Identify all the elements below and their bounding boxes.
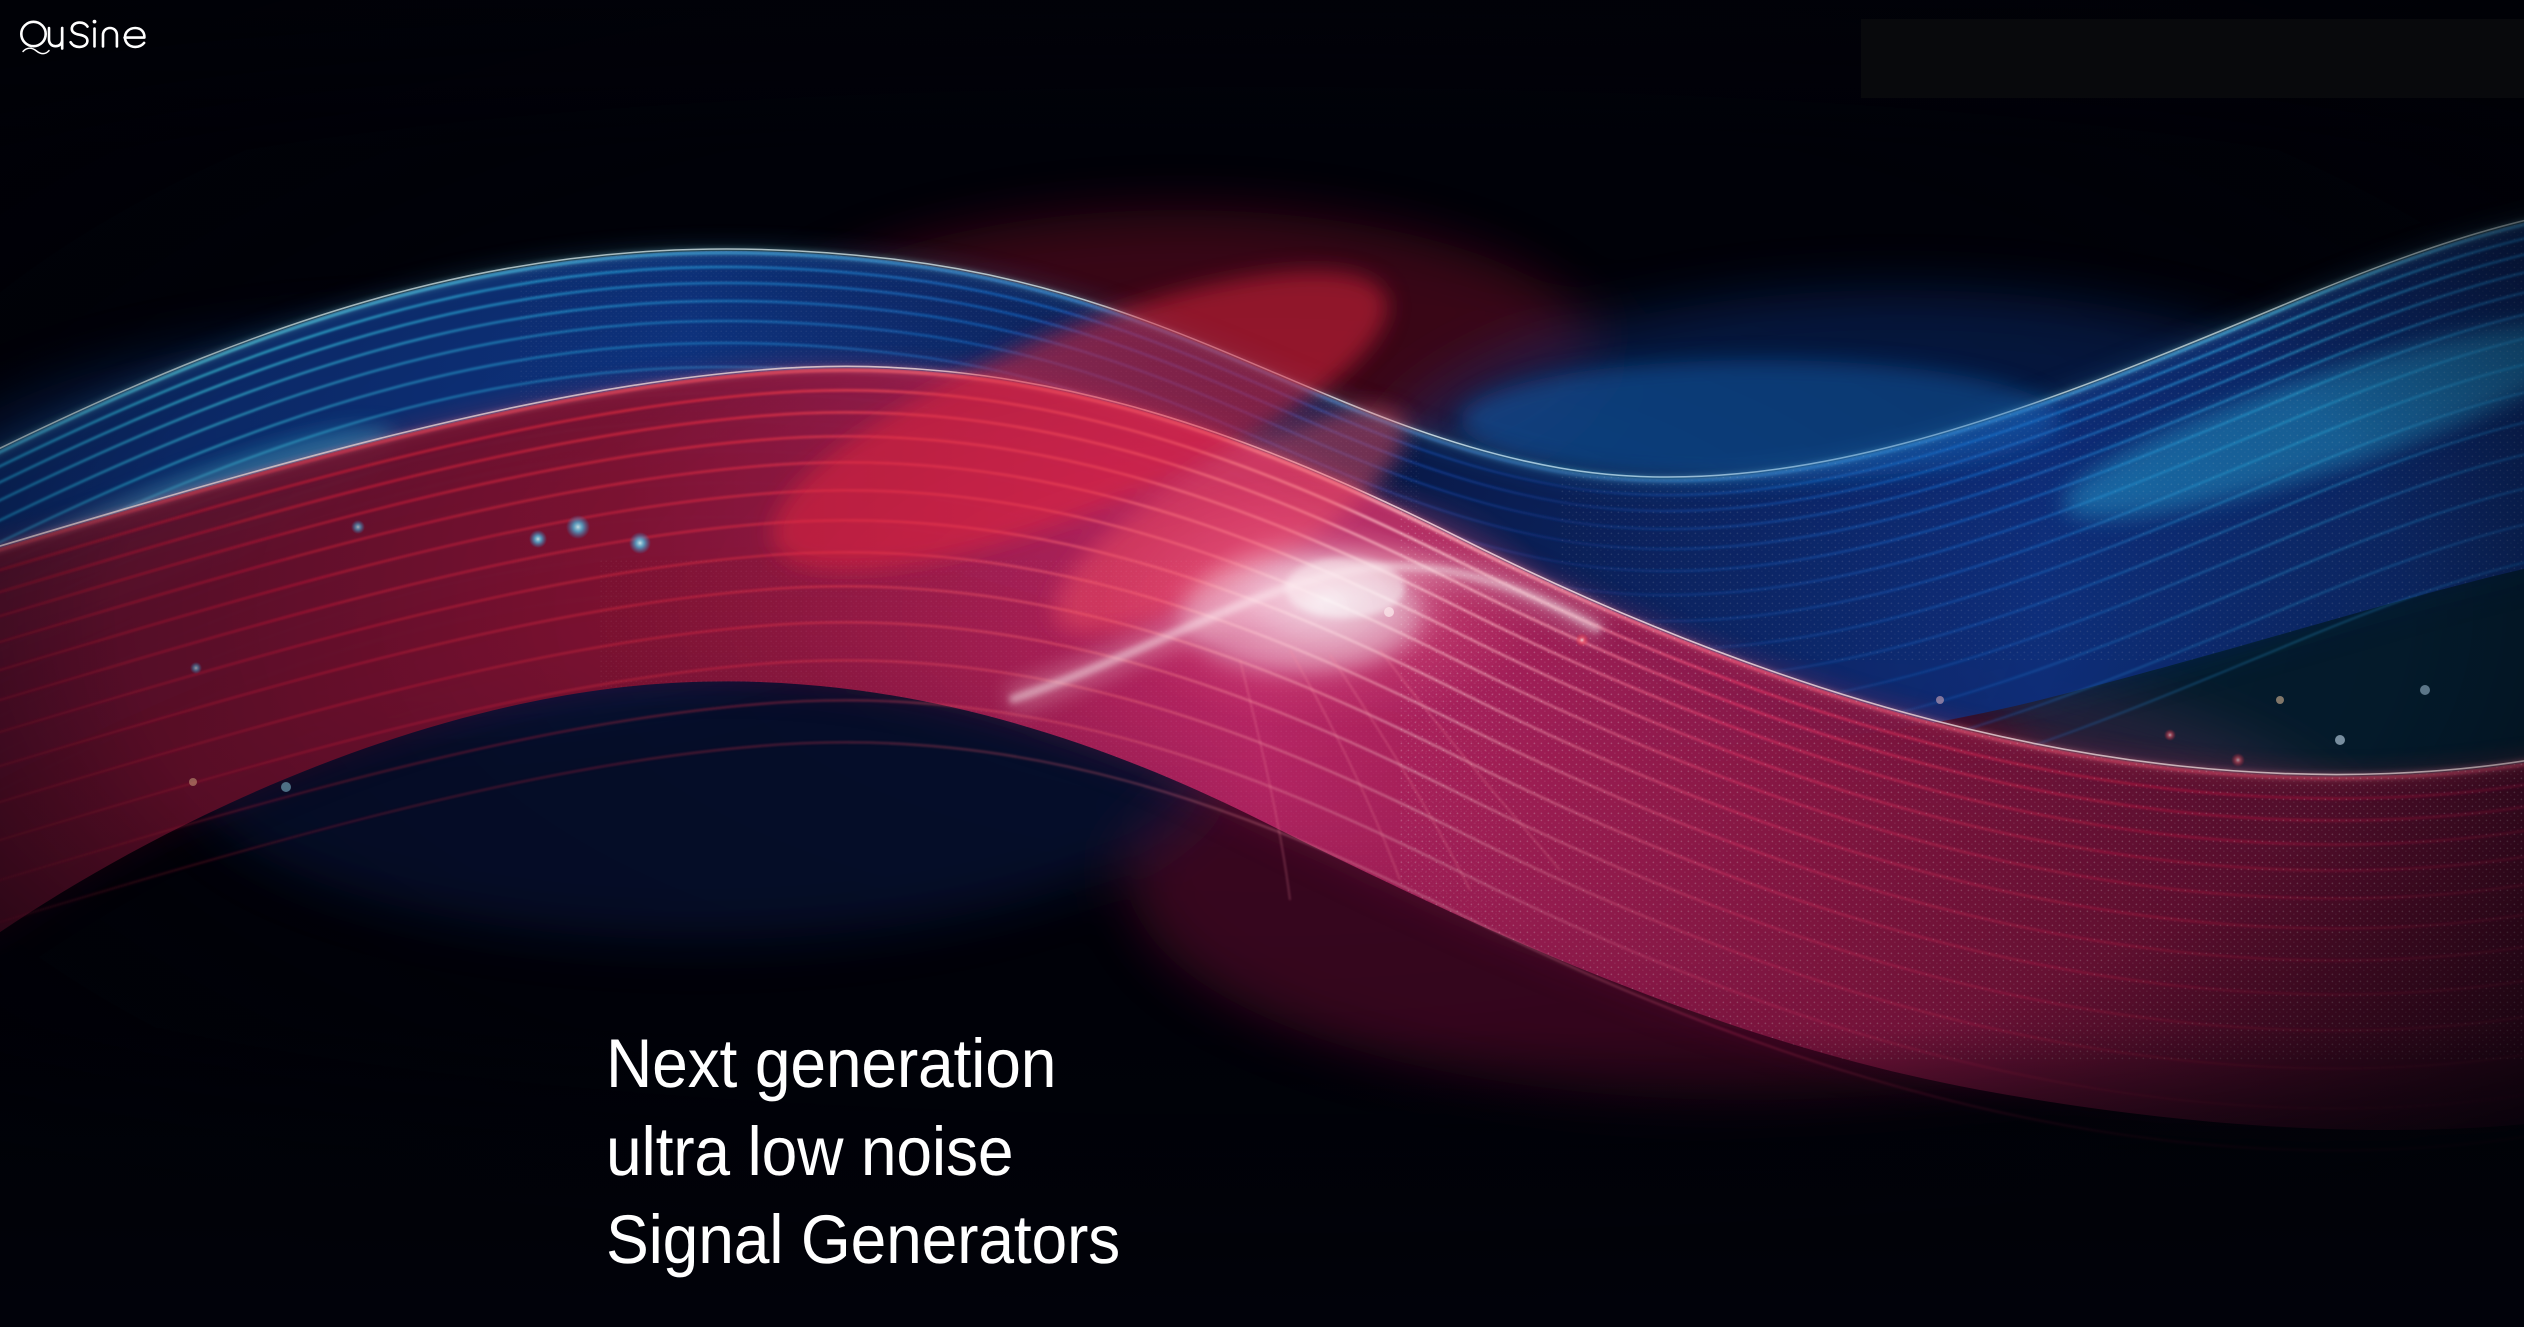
qusine-logo-icon: [14, 8, 154, 60]
qusine-wordmark-logo[interactable]: [14, 8, 154, 60]
headline-line-2: ultra low noise: [606, 1108, 1120, 1196]
headline-line-3: Signal Generators: [606, 1196, 1120, 1284]
abstract-sine-wave-artwork: [0, 0, 2524, 1327]
top-right-nav-panel[interactable]: [1861, 19, 2524, 98]
headline-line-1: Next generation: [606, 1020, 1120, 1108]
hero-screen: Next generation ultra low noise Signal G…: [0, 0, 2524, 1327]
hero-headline: Next generation ultra low noise Signal G…: [606, 1020, 1159, 1284]
